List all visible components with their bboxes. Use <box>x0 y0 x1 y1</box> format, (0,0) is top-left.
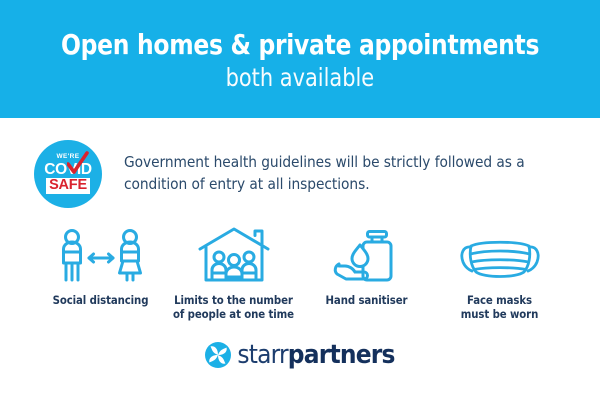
statement-text: Government health guidelines will be str… <box>124 152 564 195</box>
feature-social-distancing: Social distancing <box>34 226 167 308</box>
header-banner: Open homes & private appointments both a… <box>0 0 600 118</box>
badge-line-covid: COVID <box>44 162 92 178</box>
house-occupancy-limit-icon <box>195 226 273 284</box>
logo-word-starr: starr <box>237 340 287 370</box>
social-distancing-icon <box>53 226 149 284</box>
brand-logo: starrpartners <box>0 342 600 368</box>
feature-label: Face masks must be worn <box>461 294 538 322</box>
logo-word-partners: partners <box>288 340 395 370</box>
page-subtitle: both available <box>226 64 375 93</box>
feature-label: Limits to the number of people at one ti… <box>173 294 294 322</box>
feature-hand-sanitiser: Hand sanitiser <box>300 226 433 308</box>
feature-face-mask: Face masks must be worn <box>433 226 566 322</box>
face-mask-icon <box>458 226 542 284</box>
starr-partners-pinwheel-icon <box>205 342 231 368</box>
features-row: Social distancing <box>0 208 600 322</box>
statement-row: WE'RE COVID SAFE Government health guide… <box>0 118 600 208</box>
hand-sanitiser-icon <box>331 226 403 284</box>
badge-line-were: WE'RE <box>56 154 79 161</box>
page-title: Open homes & private appointments <box>61 29 539 61</box>
feature-label: Social distancing <box>53 294 149 308</box>
covid-safe-badge-icon: WE'RE COVID SAFE <box>34 140 102 208</box>
badge-line-safe: SAFE <box>46 178 90 194</box>
logo-wordmark: starrpartners <box>237 342 394 368</box>
feature-occupancy-limit: Limits to the number of people at one ti… <box>167 226 300 322</box>
feature-label: Hand sanitiser <box>326 294 408 308</box>
